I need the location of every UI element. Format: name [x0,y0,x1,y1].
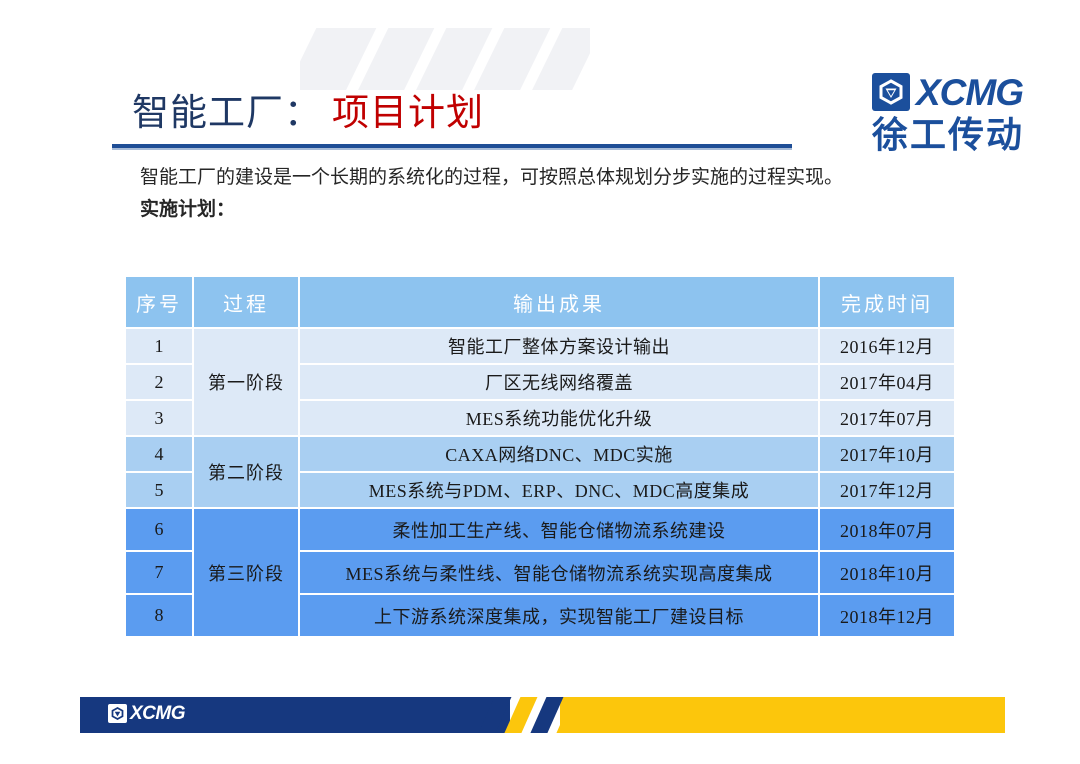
watermark-slash [349,28,441,90]
column-header-output: 输出成果 [300,277,820,329]
logo-primary-row: XCMG [872,70,1062,114]
footer-yellow-band [560,697,1005,733]
cell-output: 厂区无线网络覆盖 [300,365,820,401]
watermark-slash [523,28,590,90]
cell-phase: 第二阶段 [194,437,300,509]
body-paragraph: 智能工厂的建设是一个长期的系统化的过程，可按照总体规划分步实施的过程实现。 实施… [140,163,860,225]
page-title-main: 智能工厂： [132,93,322,134]
watermark-slash [300,28,383,90]
cell-output: MES系统与柔性线、智能仓储物流系统实现高度集成 [300,552,820,595]
cell-time: 2018年12月 [820,595,954,638]
column-header-time: 完成时间 [820,277,954,329]
footer-ribbon: XCMG [80,697,1005,733]
cell-time: 2017年04月 [820,365,954,401]
page-title: 智能工厂：项目计划 [132,82,484,136]
body-paragraph-text: 智能工厂的建设是一个长期的系统化的过程，可按照总体规划分步实施的过程实现。 [140,167,843,188]
watermark-slashes [300,28,590,90]
cell-no: 7 [126,552,194,595]
cell-no: 2 [126,365,194,401]
footer-slash-group [480,697,615,733]
cell-phase: 第三阶段 [194,509,300,638]
footer-wordmark: XCMG [130,704,185,723]
hexagon-triangle-icon [108,704,127,723]
watermark-slash [407,28,499,90]
cell-output: 智能工厂整体方案设计输出 [300,329,820,365]
cell-output: 柔性加工生产线、智能仓储物流系统建设 [300,509,820,552]
xcmg-logo: XCMG 徐工传动 [872,70,1062,158]
column-header-phase: 过程 [194,277,300,329]
footer-xcmg-logo: XCMG [108,704,185,723]
logo-wordmark: XCMG [916,74,1023,111]
column-header-no: 序号 [126,277,194,329]
cell-no: 8 [126,595,194,638]
cell-no: 6 [126,509,194,552]
cell-time: 2017年12月 [820,473,954,509]
cell-no: 1 [126,329,194,365]
cell-time: 2017年10月 [820,437,954,473]
page-title-accent: 项目计划 [332,93,484,134]
cell-phase: 第一阶段 [194,329,300,437]
hexagon-triangle-icon [872,73,910,111]
body-lead-in: 实施计划： [140,195,860,225]
watermark-slash [465,28,557,90]
table-header-row: 序号 过程 输出成果 完成时间 [126,277,954,329]
cell-output: MES系统功能优化升级 [300,401,820,437]
cell-output: CAXA网络DNC、MDC实施 [300,437,820,473]
cell-no: 3 [126,401,194,437]
table-row: 6 第三阶段 柔性加工生产线、智能仓储物流系统建设 2018年07月 [126,509,954,552]
cell-time: 2016年12月 [820,329,954,365]
logo-subbrand: 徐工传动 [872,116,1062,154]
table-row: 1 第一阶段 智能工厂整体方案设计输出 2016年12月 [126,329,954,365]
table-row: 4 第二阶段 CAXA网络DNC、MDC实施 2017年10月 [126,437,954,473]
cell-output: 上下游系统深度集成，实现智能工厂建设目标 [300,595,820,638]
implementation-plan-table: 序号 过程 输出成果 完成时间 1 第一阶段 智能工厂整体方案设计输出 2016… [126,277,954,638]
cell-no: 5 [126,473,194,509]
cell-time: 2018年07月 [820,509,954,552]
cell-time: 2017年07月 [820,401,954,437]
cell-output: MES系统与PDM、ERP、DNC、MDC高度集成 [300,473,820,509]
cell-no: 4 [126,437,194,473]
title-divider [112,144,792,148]
cell-time: 2018年10月 [820,552,954,595]
